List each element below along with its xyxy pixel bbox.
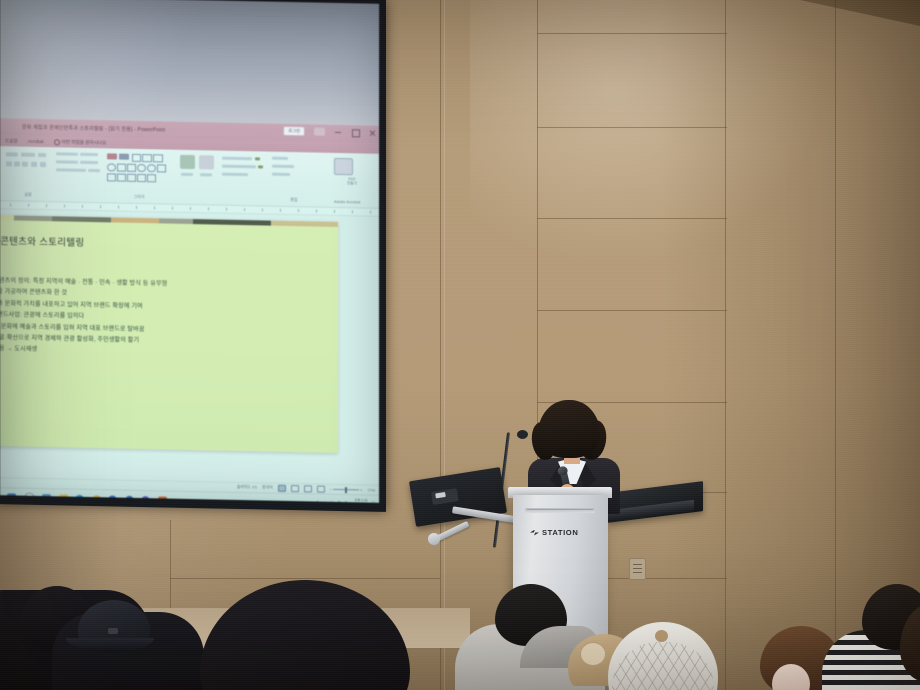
ribbon-group-drawing[interactable]: 그리기	[106, 150, 172, 200]
ribbon-group-editing-right[interactable]: 편집	[272, 154, 316, 204]
ribbon-group-label: Adobe Acrobat	[322, 199, 372, 205]
slide[interactable]: 문화콘텐츠와 스토리텔링 문화 콘텐츠의 정의: 특정 지역의 예술 · 전통 …	[0, 215, 338, 453]
notification-icon[interactable]: ▢	[372, 501, 375, 503]
wall-seam	[440, 0, 441, 690]
ribbon-group-label: 글꼴	[4, 191, 52, 198]
ribbon-group-font[interactable]: 글꼴	[4, 148, 52, 198]
restore-icon[interactable]	[351, 128, 359, 136]
wall-seam	[170, 520, 171, 620]
acrobat-big-button-label[interactable]: PDF만들기	[332, 177, 372, 187]
projector-letterbox	[0, 0, 379, 126]
slide-indicator: 슬라이드 1/1	[237, 485, 257, 490]
powerpoint-icon[interactable]	[158, 496, 167, 502]
slide-top-band	[0, 215, 338, 227]
cap-button	[655, 630, 668, 642]
screenshot-root: 문화 체험과 온에인만족과 스토리텔링 - [읽기 전용] - PowerPoi…	[0, 0, 920, 690]
cap-patch-icon	[580, 642, 606, 666]
ime-icon[interactable]: 가	[344, 500, 347, 503]
window-title: 문화 체험과 온에인만족과 스토리텔링 - [읽기 전용] - PowerPoi…	[22, 124, 165, 134]
ribbon-display-options-button[interactable]	[314, 127, 325, 135]
speaker-icon[interactable]: ◂)	[337, 500, 340, 503]
menu-item-acrobat[interactable]: Acrobat	[28, 139, 44, 144]
language-indicator[interactable]: 한국어	[262, 485, 272, 490]
view-reading-icon[interactable]	[304, 485, 312, 492]
lightbulb-icon	[54, 139, 60, 145]
wall-seam	[444, 0, 445, 690]
wall-seam	[170, 578, 440, 579]
ribbon-group-acrobat[interactable]: PDF만들기 Adobe Acrobat	[322, 155, 372, 205]
wall-outlet	[629, 558, 646, 580]
close-icon[interactable]	[368, 129, 376, 137]
tell-me-placeholder: 어떤 작업을 원하시나요	[62, 139, 107, 146]
search-icon[interactable]	[24, 493, 35, 503]
ribbon-group-paragraph[interactable]	[56, 149, 102, 199]
slide-bullets: 문화 콘텐츠의 정의: 특정 지역의 예술 · 전통 · 민속 · 생활 방식 …	[0, 275, 330, 362]
cloud-icon[interactable]: ☁	[323, 500, 326, 503]
menu-item-help[interactable]: 도움말	[5, 138, 18, 144]
projection-screen: 문화 체험과 온에인만족과 스토리텔링 - [읽기 전용] - PowerPoi…	[0, 0, 386, 512]
slide-title: 문화콘텐츠와 스토리텔링	[0, 233, 84, 249]
teams-icon[interactable]	[141, 496, 150, 503]
lectern-brand: STATION	[530, 528, 578, 537]
station-logo-icon	[530, 530, 539, 536]
ribbon[interactable]: 글꼴	[0, 146, 379, 209]
speaker-hair	[538, 400, 600, 458]
file-explorer-icon[interactable]	[59, 494, 68, 502]
view-slideshow-icon[interactable]	[317, 486, 325, 493]
system-tray[interactable]: ∧ ☁ ▭ ◂) 가 오후 1:31 2025-11-11 ▢	[316, 498, 375, 503]
windows-start-icon[interactable]	[7, 493, 16, 502]
view-slide-sorter-icon[interactable]	[291, 485, 299, 492]
tell-me-search[interactable]: 어떤 작업을 원하시나요	[54, 139, 107, 146]
chrome-icon[interactable]	[92, 495, 101, 503]
zoom-slider[interactable]: − +	[330, 487, 363, 493]
ribbon-group-label: 그리기	[106, 193, 172, 200]
account-chip[interactable]: 로그인	[283, 126, 305, 136]
mail-icon[interactable]	[125, 496, 134, 503]
minimize-icon[interactable]	[334, 128, 342, 136]
view-normal-icon[interactable]	[278, 485, 286, 492]
network-icon[interactable]: ▭	[330, 500, 333, 503]
task-view-icon[interactable]	[42, 494, 51, 503]
zoom-level[interactable]: 77%	[367, 488, 375, 492]
ribbon-group-label: 편집	[272, 197, 316, 204]
slide-canvas[interactable]: 문화콘텐츠와 스토리텔링 문화 콘텐츠의 정의: 특정 지역의 예술 · 전통 …	[0, 209, 379, 485]
cap-buckle	[108, 628, 118, 634]
monitor-arm-joint	[428, 533, 440, 545]
taskbar-clock[interactable]: 오후 1:31 2025-11-11	[351, 498, 367, 503]
show-hidden-icons-icon[interactable]: ∧	[316, 500, 318, 503]
ribbon-group-arrange[interactable]	[178, 152, 218, 202]
store-icon[interactable]	[108, 495, 117, 502]
lectern-vent	[525, 508, 595, 513]
ribbon-group-editing[interactable]	[222, 153, 266, 203]
wall-shadow-right	[660, 0, 920, 690]
edge-icon[interactable]	[75, 495, 84, 503]
lectern-brand-text: STATION	[542, 528, 578, 537]
powerpoint-window[interactable]: 문화 체험과 온에인만족과 스토리텔링 - [읽기 전용] - PowerPoi…	[0, 118, 379, 503]
